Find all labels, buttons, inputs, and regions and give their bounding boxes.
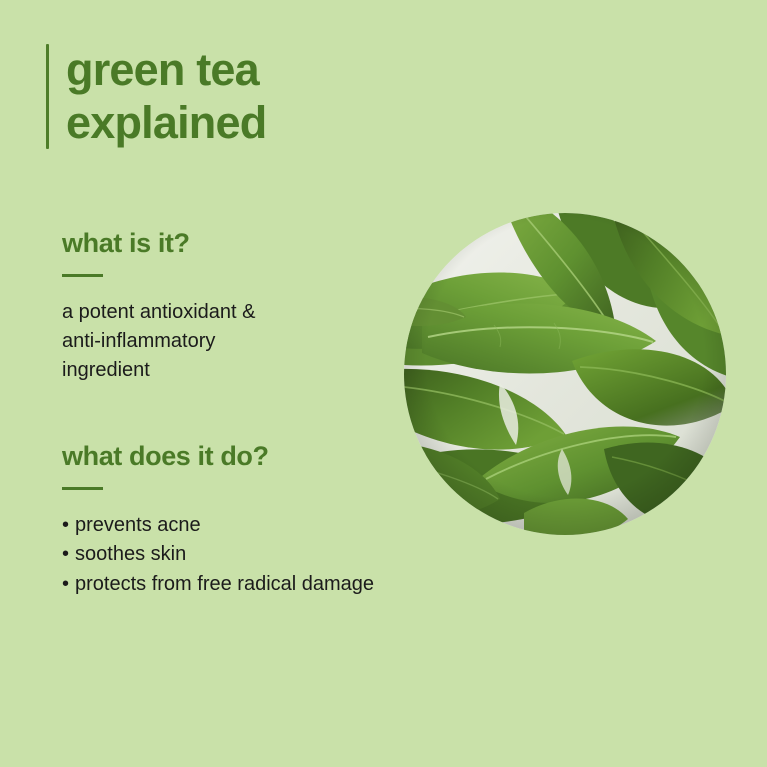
benefits-list: •prevents acne •soothes skin •protects f… — [62, 511, 374, 599]
list-item: •protects from free radical damage — [62, 570, 374, 599]
list-item: •soothes skin — [62, 540, 374, 569]
section-heading: what is it? — [62, 228, 255, 259]
section-what-is-it: what is it? a potent antioxidant & anti-… — [62, 228, 255, 405]
leaf-illustration — [404, 213, 726, 535]
page-title: green tea explained — [66, 44, 266, 149]
bullet-icon: • — [62, 543, 69, 565]
green-tea-leaves-image — [404, 213, 726, 535]
bullet-icon: • — [62, 573, 69, 595]
title-block: green tea explained — [46, 44, 266, 149]
section-divider-rule — [62, 274, 103, 277]
infographic-card: green tea explained what is it? a potent… — [0, 0, 767, 767]
list-item: •prevents acne — [62, 511, 374, 540]
section-body-text: a potent antioxidant & anti-inflammatory… — [62, 298, 255, 385]
list-item-label: soothes skin — [75, 543, 186, 565]
list-item-label: protects from free radical damage — [75, 573, 374, 595]
section-divider-rule — [62, 487, 103, 490]
list-item-label: prevents acne — [75, 514, 201, 536]
bullet-icon: • — [62, 514, 69, 536]
title-accent-bar — [46, 44, 49, 149]
section-heading: what does it do? — [62, 441, 374, 472]
section-what-does-it-do: what does it do? •prevents acne •soothes… — [62, 441, 374, 599]
